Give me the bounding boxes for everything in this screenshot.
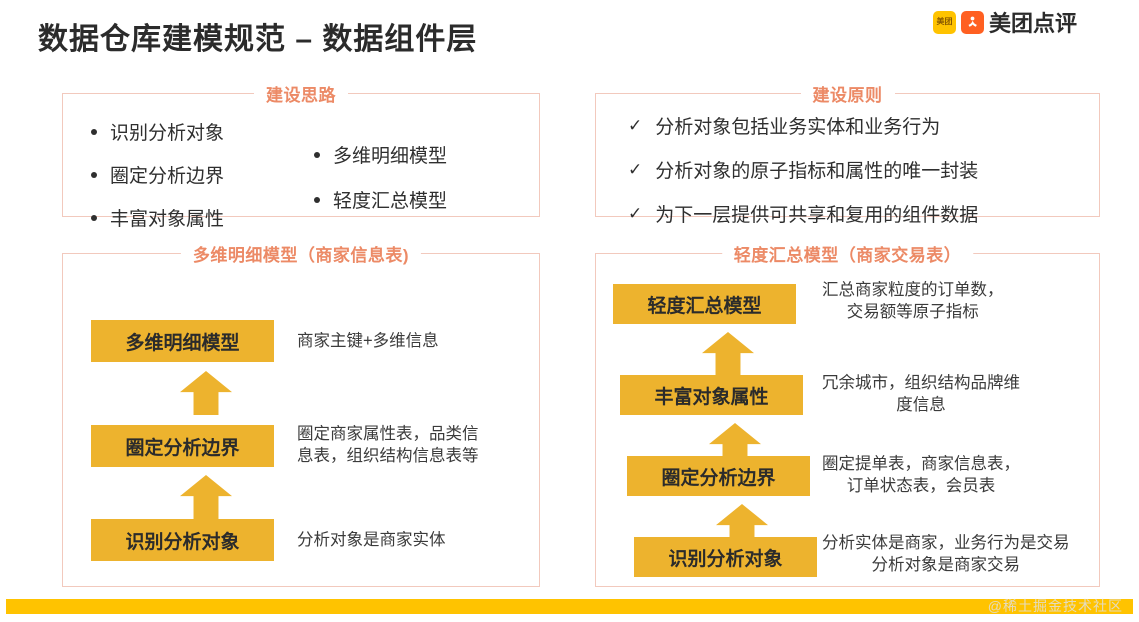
panel-construction-principles: 建设原则 ✓ 分析对象包括业务实体和业务行为 ✓ 分析对象的原子指标和属性的唯一… [595, 93, 1100, 217]
stack-level-box: 圈定分析边界 [91, 425, 274, 467]
bullet-dot-icon [91, 129, 97, 135]
summary-model-stack: 轻度汇总模型 汇总商家粒度的订单数， 交易额等原子指标 丰富对象属性 冗余城市，… [596, 254, 1099, 586]
detail-model-stack: 多维明细模型 商家主键+多维信息 圈定分析边界 圈定商家属性表，品类信 息表，组… [63, 254, 539, 586]
list-item: 圈定分析边界 [91, 161, 306, 188]
list-item: 多维明细模型 [314, 141, 521, 168]
bullet-dot-icon [314, 152, 320, 158]
stack-level-description: 分析实体是商家，业务行为是交易 分析对象是商家交易 [822, 532, 1070, 577]
up-arrow-icon [702, 332, 754, 376]
meituan-badge-icon: 美团 [933, 11, 956, 34]
stack-level-box: 识别分析对象 [634, 537, 817, 577]
stack-level-description: 圈定提单表，商家信息表， 订单状态表，会员表 [822, 453, 1020, 498]
logo-text: 美团点评 [989, 6, 1077, 38]
stack-level: 多维明细模型 商家主键+多维信息 [91, 320, 439, 362]
bullet-dot-icon [91, 172, 97, 178]
list-item: ✓ 分析对象包括业务实体和业务行为 [628, 112, 1083, 139]
stack-level-description: 圈定商家属性表，品类信 息表，组织结构信息表等 [297, 423, 479, 468]
list-item: ✓ 为下一层提供可共享和复用的组件数据 [628, 200, 1083, 227]
stack-level-description: 商家主键+多维信息 [297, 330, 439, 352]
list-item: 丰富对象属性 [91, 204, 306, 231]
stack-level: 圈定分析边界 圈定商家属性表，品类信 息表，组织结构信息表等 [91, 425, 479, 468]
panel-summary-model: 轻度汇总模型（商家交易表） 轻度汇总模型 汇总商家粒度的订单数， 交易额等原子指… [595, 253, 1100, 587]
slide: 数据仓库建模规范 – 数据组件层 美团 美团点评 建设思路 识别分析对象 圈定分… [0, 0, 1139, 622]
stack-level: 识别分析对象 分析对象是商家实体 [91, 519, 446, 561]
list-item-label: 分析对象包括业务实体和业务行为 [655, 112, 940, 139]
bullet-dot-icon [314, 197, 320, 203]
bullet-dot-icon [91, 215, 97, 221]
stack-level: 识别分析对象 分析实体是商家，业务行为是交易 分析对象是商家交易 [634, 537, 1070, 577]
principles-list: ✓ 分析对象包括业务实体和业务行为 ✓ 分析对象的原子指标和属性的唯一封装 ✓ … [596, 94, 1099, 216]
list-item-label: 识别分析对象 [110, 118, 224, 145]
check-icon: ✓ [628, 205, 642, 222]
watermark: @稀土掘金技术社区 [988, 596, 1123, 616]
stack-level-box: 丰富对象属性 [620, 375, 803, 415]
check-icon: ✓ [628, 117, 642, 134]
stack-level-box: 多维明细模型 [91, 320, 274, 362]
stack-level-box: 轻度汇总模型 [613, 284, 796, 324]
list-item: ✓ 分析对象的原子指标和属性的唯一封装 [628, 156, 1083, 183]
dianping-person-icon [961, 11, 984, 34]
list-item-label: 多维明细模型 [333, 141, 447, 168]
stack-level-description: 汇总商家粒度的订单数， 交易额等原子指标 [822, 279, 1004, 324]
list-item: 轻度汇总模型 [314, 186, 521, 213]
page-title: 数据仓库建模规范 – 数据组件层 [38, 14, 477, 58]
list-item-label: 圈定分析边界 [110, 161, 224, 188]
ideas-right-column: 多维明细模型 轻度汇总模型 [306, 114, 521, 204]
stack-level: 轻度汇总模型 汇总商家粒度的订单数， 交易额等原子指标 [613, 284, 1004, 324]
stack-level-description: 分析对象是商家实体 [297, 529, 446, 551]
stack-level: 丰富对象属性 冗余城市，组织结构品牌维 度信息 [620, 375, 1020, 417]
panel-construction-ideas: 建设思路 识别分析对象 圈定分析边界 丰富对象属性 多 [62, 93, 540, 217]
panel-detail-model: 多维明细模型（商家信息表) 多维明细模型 商家主键+多维信息 圈定分析边界 圈定… [62, 253, 540, 587]
list-item-label: 为下一层提供可共享和复用的组件数据 [655, 200, 978, 227]
list-item-label: 丰富对象属性 [110, 204, 224, 231]
check-icon: ✓ [628, 161, 642, 178]
stack-level-box: 圈定分析边界 [627, 456, 810, 496]
up-arrow-icon [180, 371, 232, 415]
meituan-dianping-logo: 美团 美团点评 [933, 6, 1077, 38]
ideas-left-column: 识别分析对象 圈定分析边界 丰富对象属性 [91, 114, 306, 204]
list-item-label: 分析对象的原子指标和属性的唯一封装 [655, 156, 978, 183]
up-arrow-icon [180, 475, 232, 519]
stack-level: 圈定分析边界 圈定提单表，商家信息表， 订单状态表，会员表 [627, 456, 1020, 498]
ideas-bullet-columns: 识别分析对象 圈定分析边界 丰富对象属性 多维明细模型 轻度 [63, 94, 539, 216]
stack-level-box: 识别分析对象 [91, 519, 274, 561]
list-item: 识别分析对象 [91, 118, 306, 145]
footer-accent-bar [6, 599, 1133, 614]
list-item-label: 轻度汇总模型 [333, 186, 447, 213]
stack-level-description: 冗余城市，组织结构品牌维 度信息 [822, 372, 1020, 417]
